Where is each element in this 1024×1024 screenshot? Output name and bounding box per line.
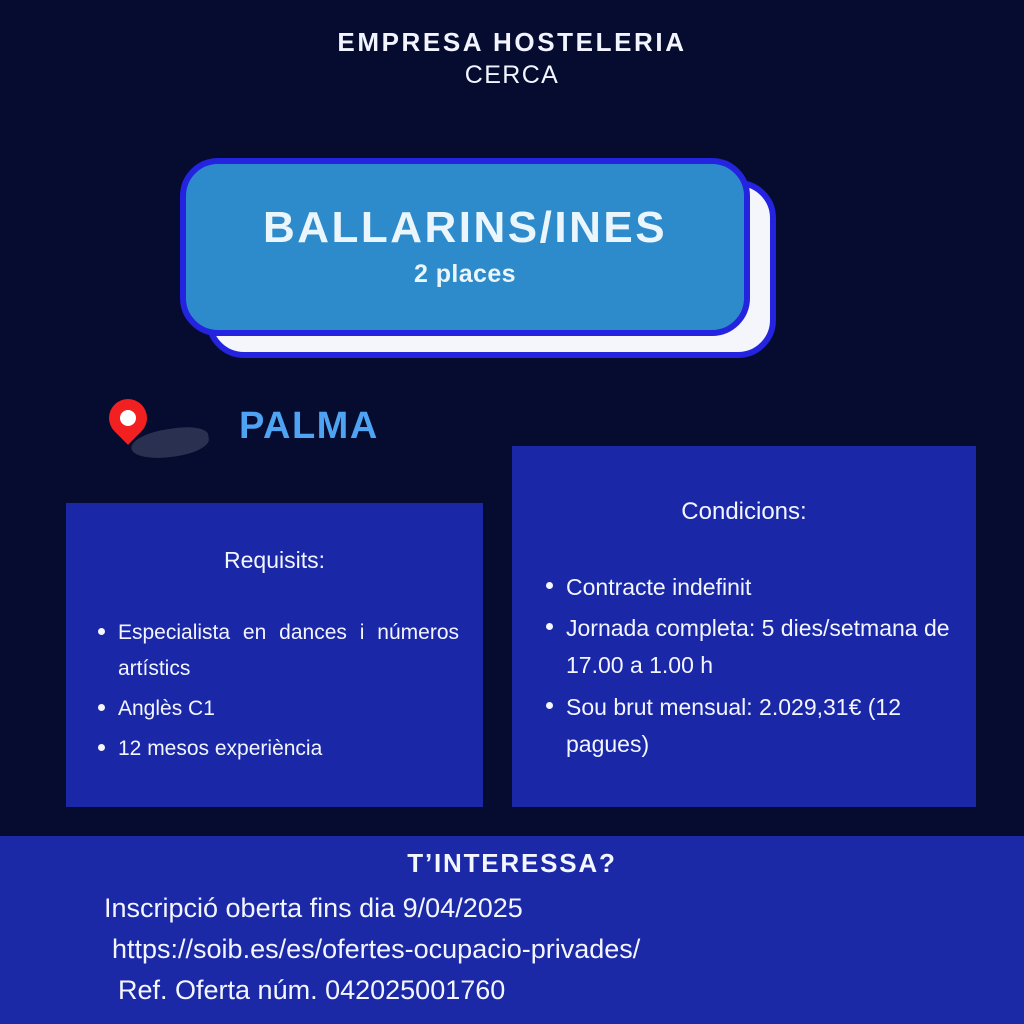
seeking-line: CERCA (0, 57, 1024, 95)
list-item: 12 mesos experiència (90, 731, 459, 767)
application-deadline: Inscripció oberta fins dia 9/04/2025 (104, 888, 984, 929)
list-item: Contracte indefinit (538, 569, 950, 606)
footer-lines: Inscripció oberta fins dia 9/04/2025 htt… (104, 888, 984, 1011)
job-vacancies: 2 places (414, 260, 516, 289)
conditions-panel: Condicions: Contracte indefinit Jornada … (512, 446, 976, 807)
requirement-text: 12 mesos experiència (118, 737, 322, 760)
list-item: Especialista en dances i números artísti… (90, 615, 459, 687)
list-item: Anglès C1 (90, 691, 459, 727)
location-name: PALMA (239, 405, 379, 448)
requirements-list: Especialista en dances i números artísti… (90, 615, 459, 767)
job-title: BALLARINS/INES (263, 205, 667, 251)
footer-banner: T’INTERESSA? www (0, 836, 1024, 1024)
card-front-layer: BALLARINS/INES 2 places (180, 158, 750, 336)
requirements-panel: Requisits: Especialista en dances i núme… (66, 503, 483, 807)
company-line: EMPRESA HOSTELERIA (0, 28, 1024, 57)
condition-text: Jornada completa: 5 dies/setmana de 17.0… (566, 615, 950, 678)
requirement-text: Especialista en dances i números artísti… (118, 621, 459, 680)
conditions-heading: Condicions: (538, 498, 950, 527)
requirements-heading: Requisits: (90, 547, 459, 575)
condition-text: Sou brut mensual: 2.029,31€ (12 pagues) (566, 694, 901, 757)
footer-heading: T’INTERESSA? (0, 848, 1024, 879)
application-url[interactable]: https://soib.es/es/ofertes-ocupacio-priv… (104, 929, 984, 970)
list-item: Sou brut mensual: 2.029,31€ (12 pagues) (538, 689, 950, 764)
requirement-text: Anglès C1 (118, 697, 215, 720)
condition-text: Contracte indefinit (566, 574, 751, 600)
job-title-card: BALLARINS/INES 2 places (180, 158, 790, 368)
list-item: Jornada completa: 5 dies/setmana de 17.0… (538, 610, 950, 685)
offer-reference: Ref. Oferta núm. 042025001760 (104, 970, 984, 1011)
map-pin-dot-icon (120, 410, 136, 426)
poster-header: EMPRESA HOSTELERIA CERCA (0, 28, 1024, 94)
job-offer-poster: EMPRESA HOSTELERIA CERCA BALLARINS/INES … (0, 0, 1024, 1024)
conditions-list: Contracte indefinit Jornada completa: 5 … (538, 569, 950, 763)
